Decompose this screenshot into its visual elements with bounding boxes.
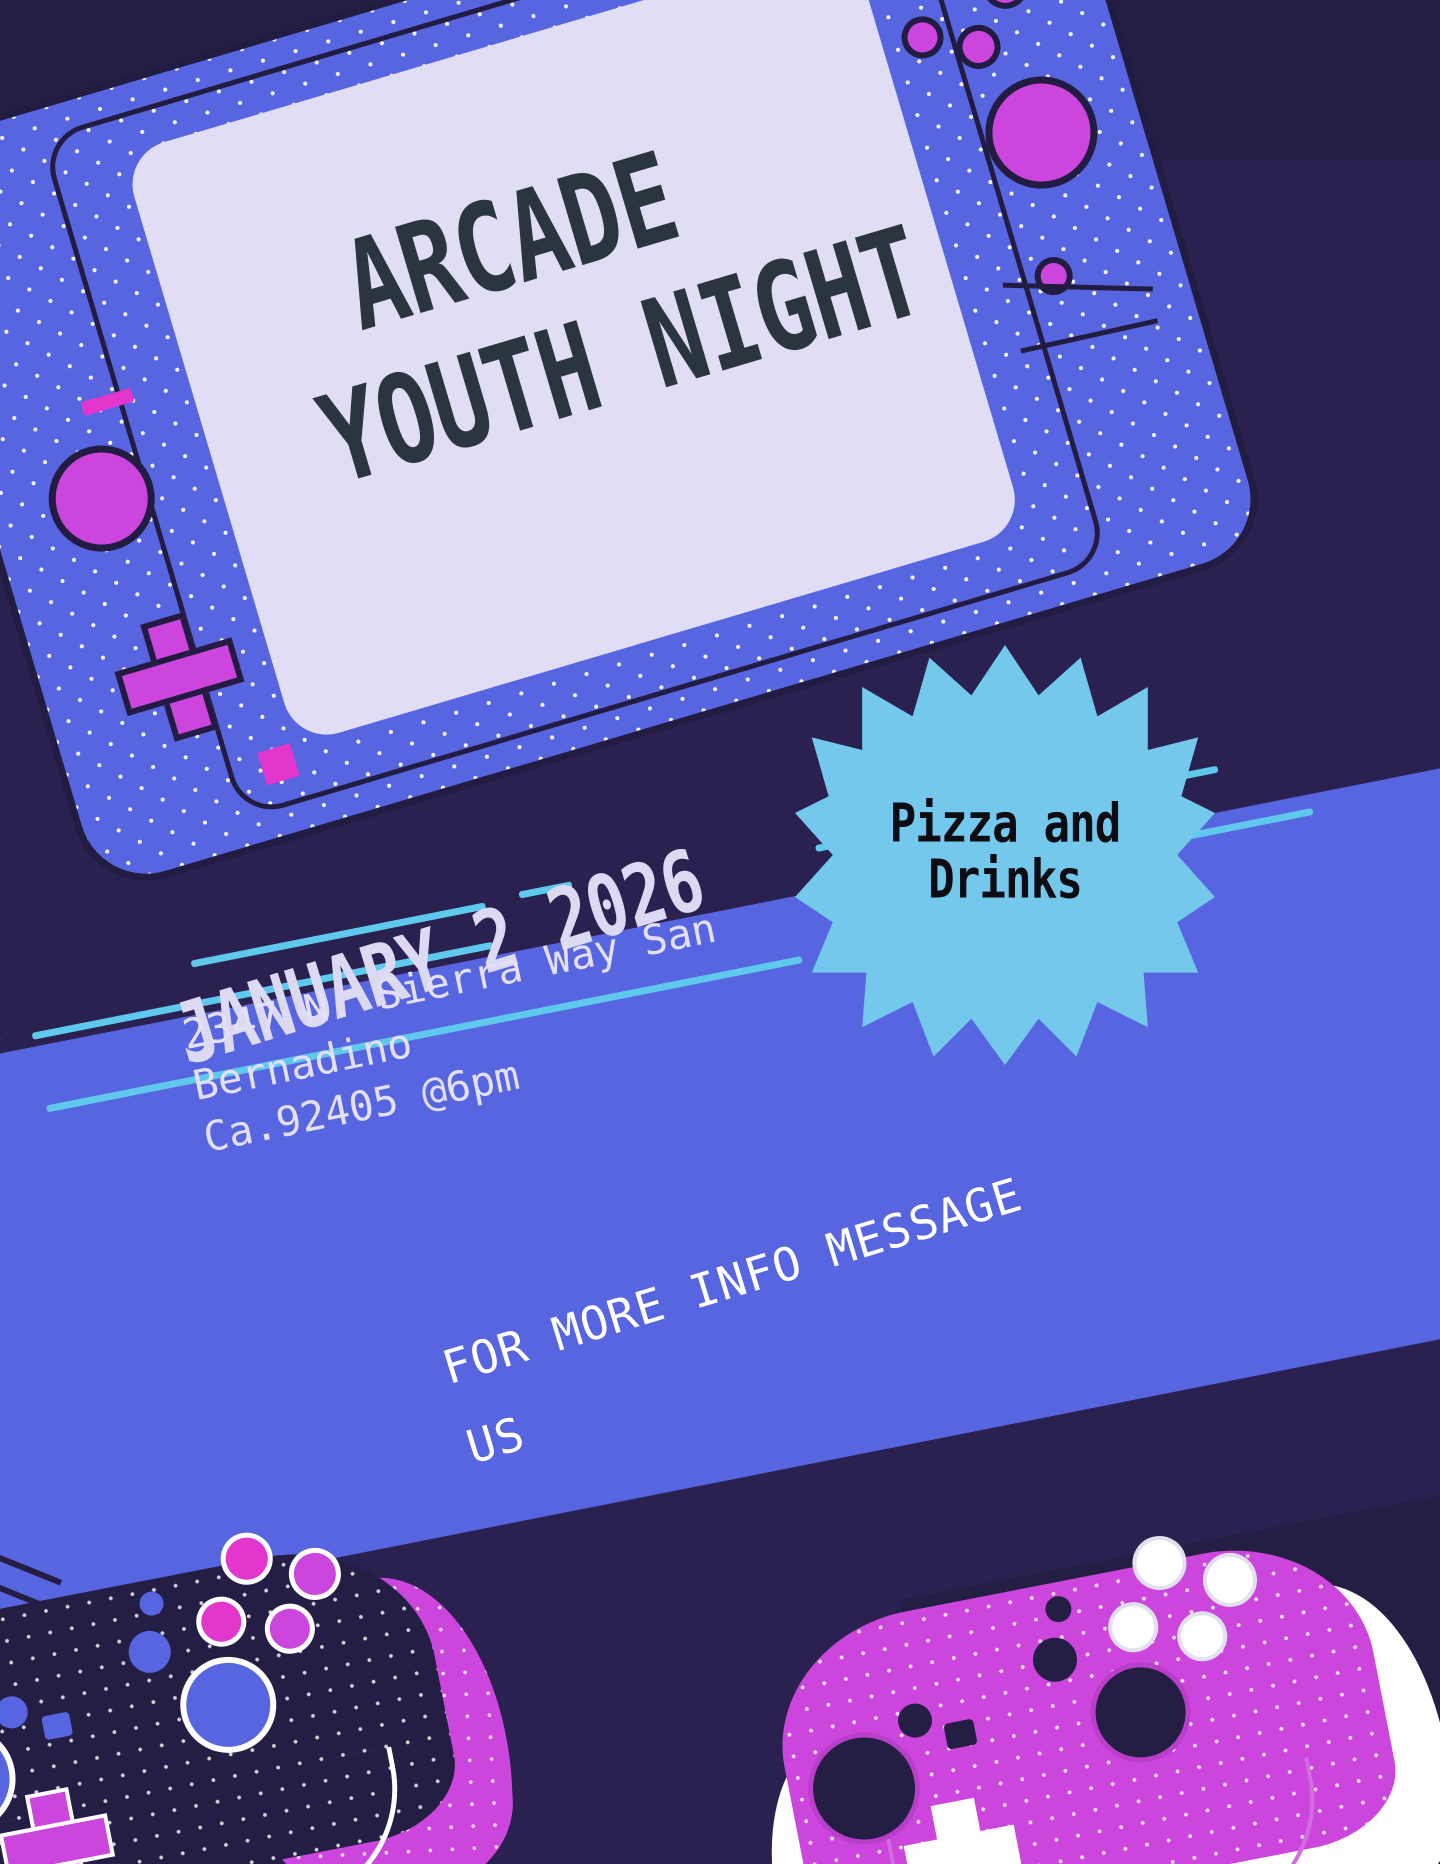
dpad-center bbox=[37, 1825, 77, 1864]
starburst-badge: Pizza and Drinks bbox=[795, 645, 1215, 1065]
starburst-label: Pizza and Drinks bbox=[795, 795, 1215, 907]
starburst-line-2: Drinks bbox=[803, 847, 1206, 912]
poster-canvas: ARCADE YOUTH NIGHT JANUARY 2 2026 2347 N… bbox=[0, 0, 1440, 1864]
